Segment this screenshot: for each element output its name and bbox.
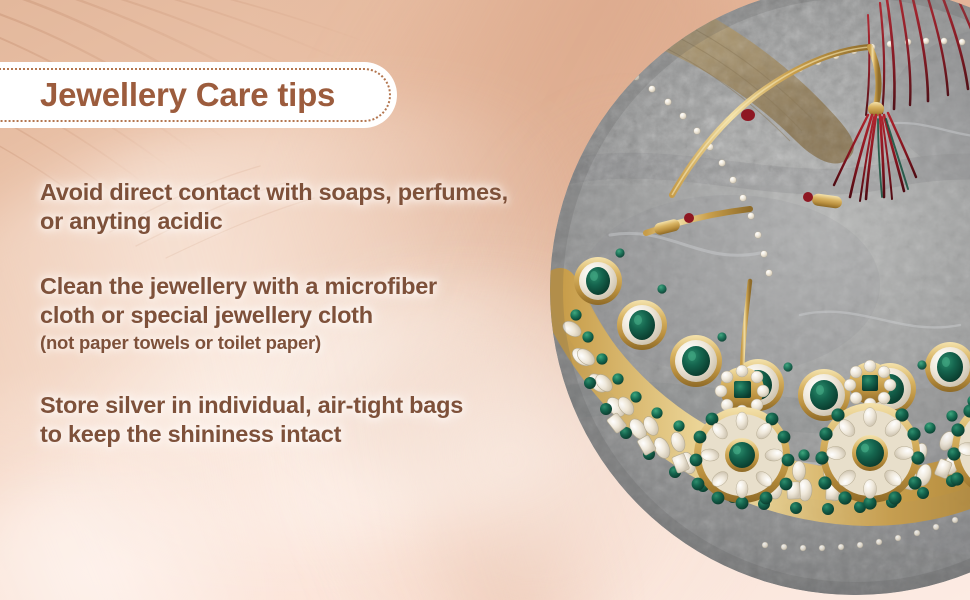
page-title: Jewellery Care tips xyxy=(40,76,335,114)
tip-clean-microfiber: Clean the jewellery with a microfiber cl… xyxy=(40,272,560,354)
tip-line: Clean the jewellery with a microfiber xyxy=(40,272,560,301)
tip-store-airtight: Store silver in individual, air-tight ba… xyxy=(40,391,560,449)
tip-avoid-chemicals: Avoid direct contact with soaps, perfume… xyxy=(40,178,560,236)
tip-line: cloth or special jewellery cloth xyxy=(40,301,560,330)
tip-line: to keep the shininess intact xyxy=(40,420,560,449)
poster-canvas: Jewellery Care tips Avoid direct contact… xyxy=(0,0,970,600)
tip-line: or anyting acidic xyxy=(40,207,560,236)
tips-list: Avoid direct contact with soaps, perfume… xyxy=(40,178,560,449)
tip-line: Store silver in individual, air-tight ba… xyxy=(40,391,560,420)
tip-subnote: (not paper towels or toilet paper) xyxy=(40,331,560,355)
tip-line: Avoid direct contact with soaps, perfume… xyxy=(40,178,560,207)
title-banner: Jewellery Care tips xyxy=(0,62,397,128)
